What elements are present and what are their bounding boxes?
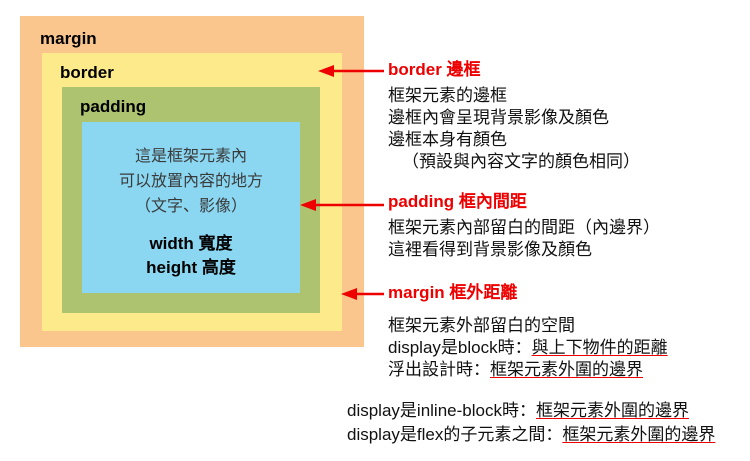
annotation-margin-line-3: 浮出設計時：框架元素外圍的邊界	[388, 359, 668, 381]
annotation-margin-line-2: display是block時：與上下物件的距離	[388, 337, 668, 359]
bottom-note-1-underlined: 框架元素外圍的邊界	[536, 401, 689, 420]
annotation-border-line-2: 邊框內會呈現背景影像及顏色	[388, 107, 640, 129]
box-model-diagram: 這是框架元素內 可以放置內容的地方 （文字、影像） width 寬度 heigh…	[20, 16, 364, 347]
annotation-margin-line-2-underlined: 與上下物件的距離	[532, 338, 668, 357]
annotation-margin-line-3-prefix: 浮出設計時：	[388, 360, 490, 379]
content-text-block: 這是框架元素內 可以放置內容的地方 （文字、影像） width 寬度 heigh…	[82, 144, 300, 280]
annotation-margin-line-1: 框架元素外部留白的空間	[388, 315, 668, 337]
content-dimensions: width 寬度 height 高度	[82, 232, 300, 280]
content-line-1: 這是框架元素內	[82, 144, 300, 169]
content-width-label: width 寬度	[82, 232, 300, 256]
content-layer: 這是框架元素內 可以放置內容的地方 （文字、影像） width 寬度 heigh…	[82, 122, 300, 293]
bottom-notes: display是inline-block時：框架元素外圍的邊界 display是…	[347, 399, 715, 447]
annotation-margin-line-3-underlined: 框架元素外圍的邊界	[490, 360, 643, 379]
bottom-note-1-prefix: display是inline-block時：	[347, 401, 536, 420]
annotation-border-line-3: 邊框本身有顏色	[388, 129, 640, 151]
bottom-note-1: display是inline-block時：框架元素外圍的邊界	[347, 399, 715, 423]
margin-label: margin	[40, 30, 97, 47]
annotation-padding-line-2: 這裡看得到背景影像及顏色	[388, 239, 660, 261]
annotation-border: border 邊框 框架元素的邊框 邊框內會呈現背景影像及顏色 邊框本身有顏色 …	[388, 60, 640, 173]
bottom-note-2-underlined: 框架元素外圍的邊界	[562, 425, 715, 444]
annotation-margin-body: 框架元素外部留白的空間 display是block時：與上下物件的距離 浮出設計…	[388, 315, 668, 381]
annotation-margin: margin 框外距離 框架元素外部留白的空間 display是block時：與…	[388, 283, 668, 381]
arrow-to-padding-icon	[300, 198, 386, 212]
bottom-note-2: display是flex的子元素之間：框架元素外圍的邊界	[347, 423, 715, 447]
annotation-border-body: 框架元素的邊框 邊框內會呈現背景影像及顏色 邊框本身有顏色 （預設與內容文字的顏…	[388, 85, 640, 173]
bottom-note-2-prefix: display是flex的子元素之間：	[347, 425, 562, 444]
annotation-border-title: border 邊框	[388, 60, 640, 80]
annotation-margin-title: margin 框外距離	[388, 283, 668, 303]
annotation-padding-title: padding 框內間距	[388, 192, 660, 212]
arrow-to-border-icon	[318, 64, 386, 78]
annotation-padding-line-1: 框架元素內部留白的間距（內邊界）	[388, 217, 660, 239]
annotation-padding-body: 框架元素內部留白的間距（內邊界） 這裡看得到背景影像及顏色	[388, 217, 660, 261]
annotation-border-line-1: 框架元素的邊框	[388, 85, 640, 107]
content-line-2: 可以放置內容的地方	[82, 169, 300, 194]
border-label: border	[60, 64, 114, 81]
content-height-label: height 高度	[82, 256, 300, 280]
padding-label: padding	[80, 98, 146, 115]
arrow-to-margin-icon	[341, 287, 386, 301]
annotation-padding: padding 框內間距 框架元素內部留白的間距（內邊界） 這裡看得到背景影像及…	[388, 192, 660, 261]
annotation-border-line-4: （預設與內容文字的顏色相同）	[388, 151, 640, 173]
content-line-3: （文字、影像）	[82, 194, 300, 219]
annotation-margin-line-2-prefix: display是block時：	[388, 338, 532, 357]
